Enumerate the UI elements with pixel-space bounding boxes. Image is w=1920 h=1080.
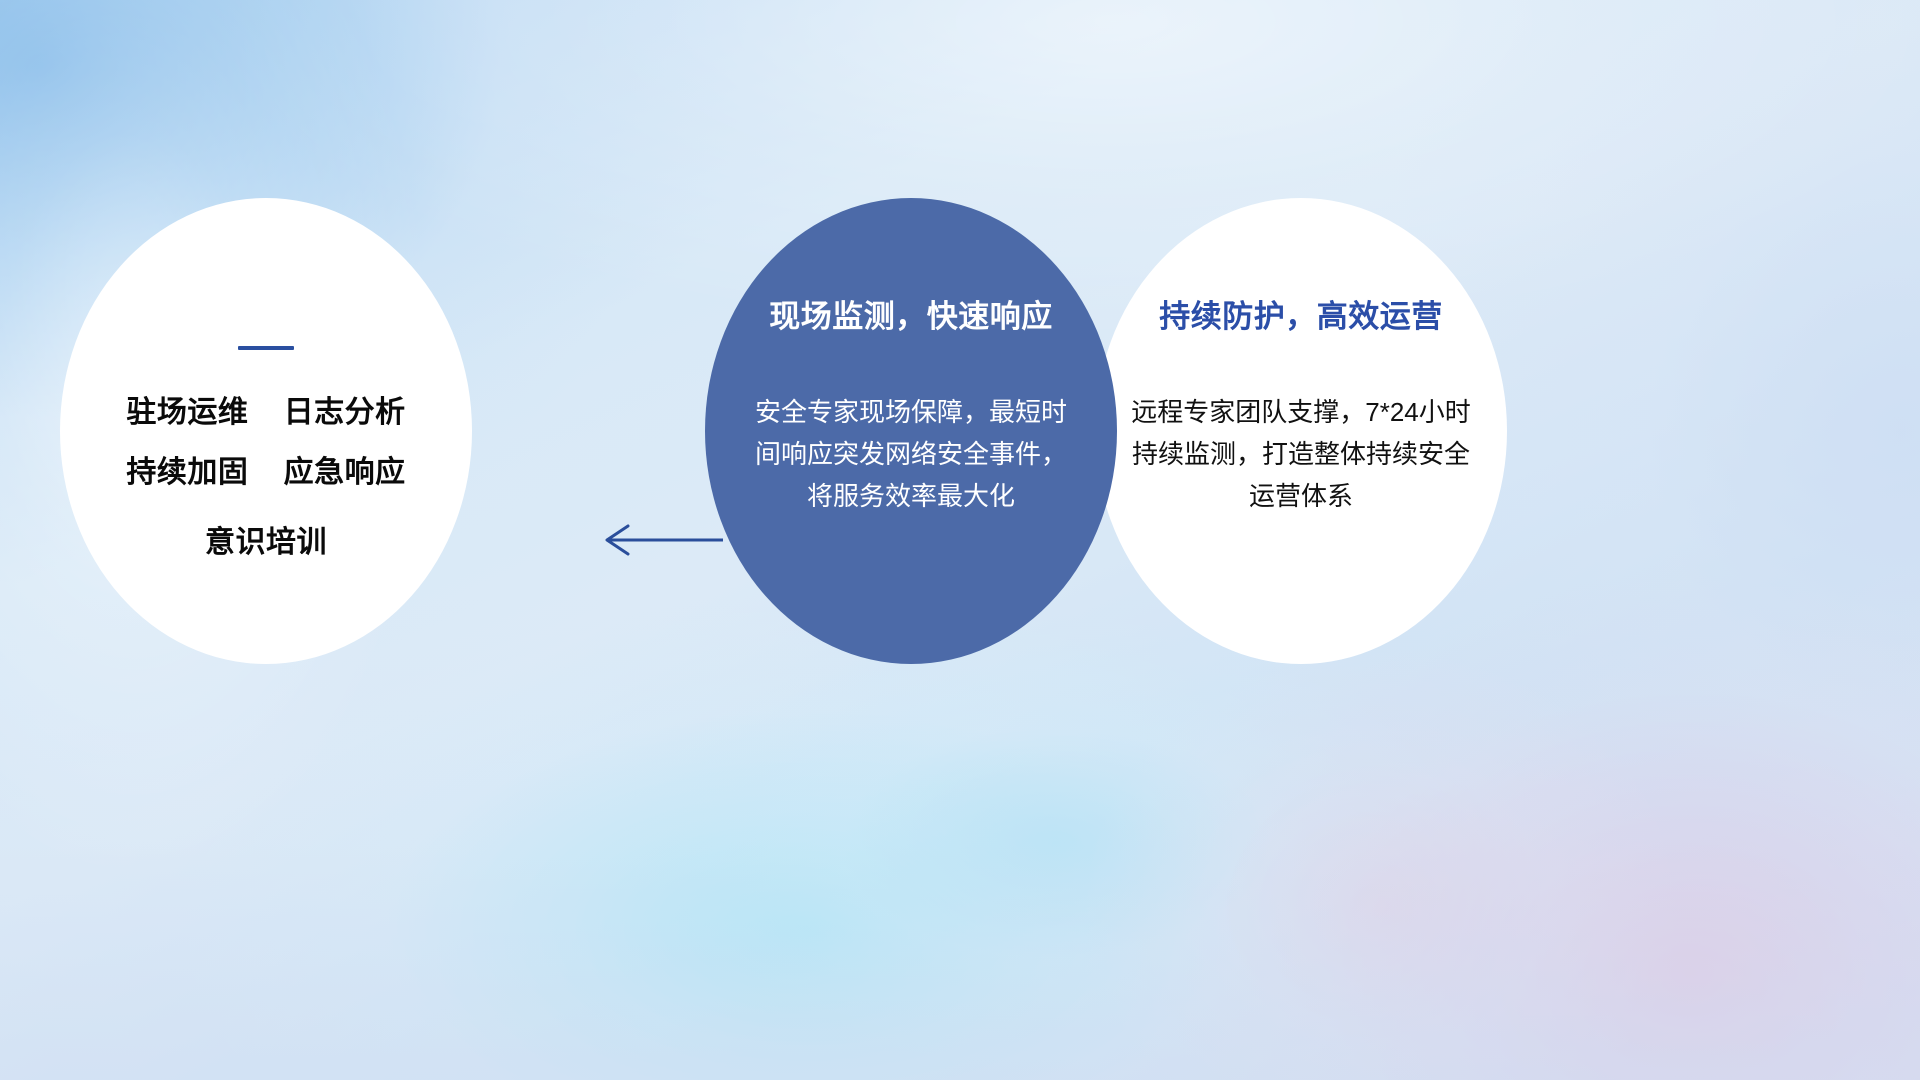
service-circle-right-content: 持续防护，高效运营 远程专家团队支撑，7*24小时持续监测，打造整体持续安全运营… <box>1095 198 1507 664</box>
capability-line-3: 意识培训 <box>205 528 327 558</box>
flow-arrow-left-icon <box>595 518 725 562</box>
capability-line-1: 驻场运维 日志分析 <box>126 398 405 428</box>
service-circle-right-title: 持续防护，高效运营 <box>1159 298 1443 335</box>
service-circle-right[interactable]: 持续防护，高效运营 远程专家团队支撑，7*24小时持续监测，打造整体持续安全运营… <box>1095 198 1507 664</box>
service-circle-middle-title: 现场监测，快速响应 <box>769 298 1053 335</box>
service-circle-middle[interactable]: 现场监测，快速响应 安全专家现场保障，最短时间响应突发网络安全事件，将服务效率最… <box>705 198 1117 664</box>
service-circle-right-body: 远程专家团队支撑，7*24小时持续监测，打造整体持续安全运营体系 <box>1126 391 1476 517</box>
capability-circle-left-content: 驻场运维 日志分析 持续加固 应急响应 意识培训 <box>60 198 472 664</box>
accent-dash-icon <box>238 346 294 350</box>
service-circle-middle-content: 现场监测，快速响应 安全专家现场保障，最短时间响应突发网络安全事件，将服务效率最… <box>705 198 1117 664</box>
slide-canvas: 驻场运维 日志分析 持续加固 应急响应 意识培训 持续防护，高效运营 远程专家团… <box>0 0 1920 1080</box>
capability-line-2: 持续加固 应急响应 <box>126 458 405 488</box>
capability-circle-left[interactable]: 驻场运维 日志分析 持续加固 应急响应 意识培训 <box>60 198 472 664</box>
service-circle-middle-body: 安全专家现场保障，最短时间响应突发网络安全事件，将服务效率最大化 <box>751 391 1071 517</box>
